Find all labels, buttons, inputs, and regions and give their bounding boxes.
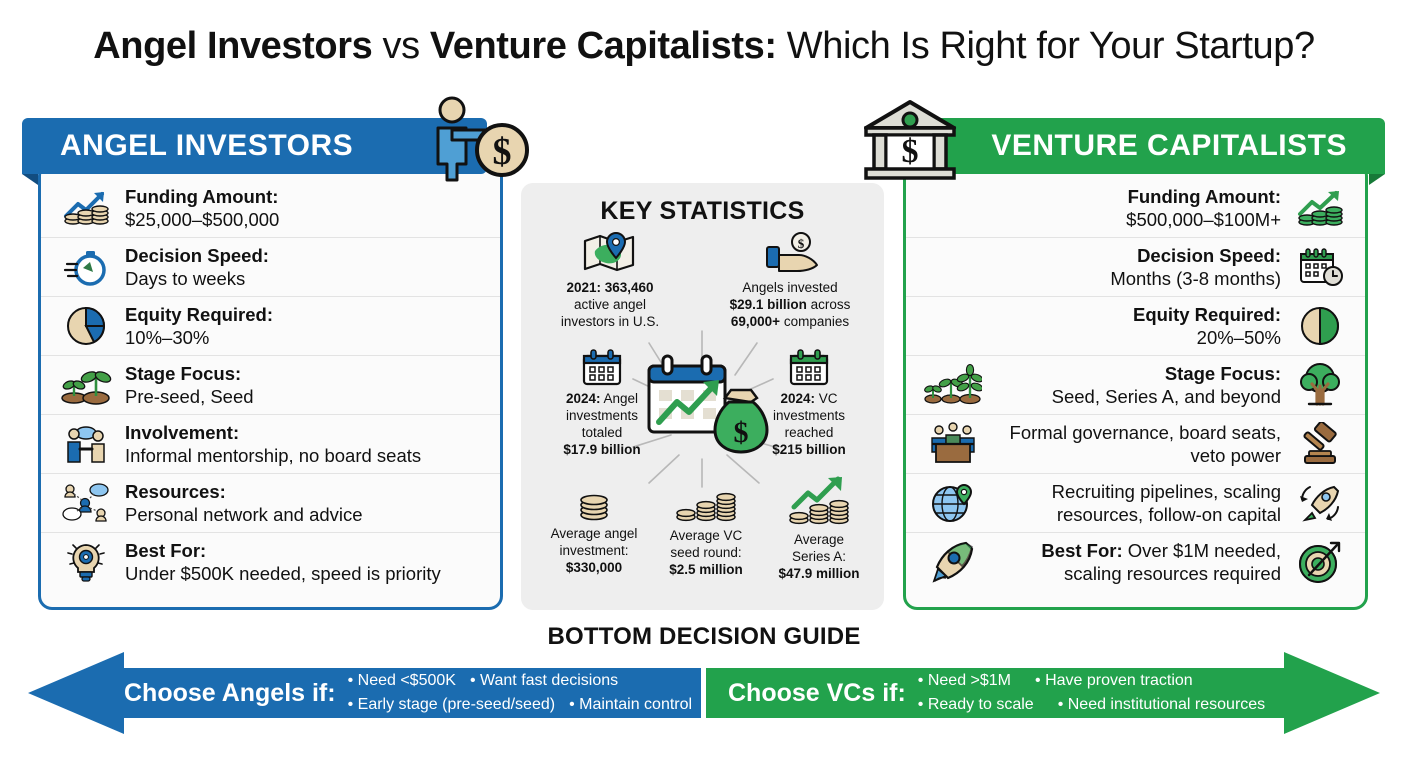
network-chat-icon	[55, 481, 117, 525]
vc-row-stage: Stage Focus: Seed, Series A, and beyond	[906, 355, 1365, 414]
banner-tail	[1369, 174, 1385, 185]
green-calendar-icon	[743, 348, 875, 390]
vc-bullet-3: • Ready to scale	[918, 693, 1034, 717]
angel-bullet-3: • Early stage (pre-seed/seed)	[348, 693, 555, 717]
stat-line: across	[807, 297, 851, 312]
stat-average-vc-seed-round: Average VC seed round: $2.5 million	[649, 483, 763, 578]
key-statistics-panel: KEY STATISTICS	[521, 183, 884, 610]
stat-line-bold: $215 billion	[772, 442, 846, 457]
stat-line: reached	[785, 425, 834, 440]
row-label: Stage Focus:	[984, 362, 1281, 385]
calendar-clock-icon	[1289, 246, 1351, 288]
vc-row-funding: Funding Amount: $500,000–$100M+	[906, 179, 1365, 237]
tree-icon	[1289, 362, 1351, 408]
green-growth-coins-icon	[1289, 188, 1351, 228]
stat-average-series-a: Average Series A: $47.9 million	[757, 475, 881, 582]
angel-row-stage-text: Stage Focus: Pre-seed, Seed	[117, 356, 484, 414]
vc-bullet-2: • Have proven traction	[1035, 669, 1193, 693]
row-value: Recruiting pipelines, scaling resources,…	[984, 480, 1281, 526]
three-seedlings-icon	[922, 363, 984, 407]
title-part-vc: Venture Capitalists:	[430, 25, 777, 67]
angel-row-equity: Equity Required: 10%–30%	[41, 296, 500, 355]
row-value: Formal governance, board seats, veto pow…	[984, 421, 1281, 467]
vc-banner-label: VENTURE CAPITALISTS	[991, 129, 1347, 163]
row-label: Best For:	[125, 539, 484, 562]
row-label: Stage Focus:	[125, 362, 484, 385]
row-label: Equity Required:	[125, 303, 484, 326]
choose-vcs-list: • Need >$1M • Have proven traction • Rea…	[906, 669, 1280, 717]
angel-row-resources-text: Resources: Personal network and advice	[117, 474, 484, 532]
stat-line: Angels invested	[742, 280, 837, 295]
stat-line-bold: $29.1 billion	[730, 297, 807, 312]
row-value: $500,000–$100M+	[984, 208, 1281, 231]
choose-angels-list: • Need <$500K • Want fast decisions • Ea…	[336, 669, 692, 717]
vc-row-stage-text: Stage Focus: Seed, Series A, and beyond	[984, 356, 1289, 414]
coin-stacks-arrow-icon	[757, 475, 881, 531]
gavel-icon	[1289, 422, 1351, 466]
stat-line-bold: 69,000+	[731, 314, 780, 329]
key-statistics-title: KEY STATISTICS	[521, 197, 884, 226]
blue-calendar-icon	[531, 348, 673, 390]
angel-bullet-4: • Maintain control	[569, 693, 692, 717]
stat-line: Average angel	[551, 526, 638, 541]
angel-row-resources: Resources: Personal network and advice	[41, 473, 500, 532]
angel-bullet-1: • Need <$500K	[348, 669, 456, 693]
boardroom-icon	[922, 422, 984, 466]
rocket-icon	[922, 539, 984, 585]
title-part-question: Which Is Right for Your Startup?	[777, 25, 1315, 67]
angel-rows: Funding Amount: $25,000–$500,000 Decisio…	[41, 179, 500, 591]
angel-banner: ANGEL INVESTORS	[22, 118, 487, 174]
stat-line: active angel	[574, 297, 646, 312]
growth-coins-icon	[55, 188, 117, 228]
stat-line: Average	[794, 532, 844, 547]
vc-row-governance-text: Formal governance, board seats, veto pow…	[984, 415, 1289, 473]
svg-text:$: $	[902, 133, 919, 170]
vc-bullet-1: • Need >$1M	[918, 669, 1011, 693]
rocket-cycle-icon	[1289, 481, 1351, 525]
stat-line: investments	[566, 408, 638, 423]
row-label: Equity Required:	[984, 303, 1281, 326]
svg-text:$: $	[798, 236, 805, 251]
stat-line: investments	[773, 408, 845, 423]
angel-row-speed-text: Decision Speed: Days to weeks	[117, 238, 484, 296]
stat-line-bold: $330,000	[566, 560, 622, 575]
choose-vcs-arrow: Choose VCs if: • Need >$1M • Have proven…	[706, 652, 1380, 734]
bottom-decision-guide-title: BOTTOM DECISION GUIDE	[0, 623, 1408, 651]
angel-row-equity-text: Equity Required: 10%–30%	[117, 297, 484, 355]
stat-line-bold: $47.9 million	[778, 566, 859, 581]
row-value: Informal mentorship, no board seats	[125, 444, 484, 467]
angel-investors-panel: Funding Amount: $25,000–$500,000 Decisio…	[38, 162, 503, 610]
row-label: Decision Speed:	[125, 244, 484, 267]
choose-vcs-heading: Choose VCs if:	[728, 679, 906, 708]
stat-line: Angel	[600, 391, 638, 406]
svg-text:$: $	[493, 131, 512, 173]
angel-bullet-2: • Want fast decisions	[470, 669, 618, 693]
coin-stack-small-icon	[529, 483, 659, 525]
choose-vcs-content: Choose VCs if: • Need >$1M • Have proven…	[728, 652, 1280, 734]
row-label: Best For:	[1041, 540, 1122, 561]
stat-vc-2024: 2024: VC investments reached $215 billio…	[743, 348, 875, 458]
stat-line-bold: 2024:	[566, 391, 601, 406]
row-value: Personal network and advice	[125, 503, 484, 526]
vc-row-equity: Equity Required: 20%–50%	[906, 296, 1365, 355]
angel-row-involvement-text: Involvement: Informal mentorship, no boa…	[117, 415, 484, 473]
stat-line: VC	[815, 391, 838, 406]
row-value: $25,000–$500,000	[125, 208, 484, 231]
stat-line-bold: 2024:	[780, 391, 815, 406]
choose-angels-content: Choose Angels if: • Need <$500K • Want f…	[124, 652, 687, 734]
mentorship-icon	[55, 422, 117, 466]
title-part-vs: vs	[372, 25, 430, 67]
pie-chart-icon	[55, 304, 117, 348]
row-label: Resources:	[125, 480, 484, 503]
us-map-pin-icon	[535, 231, 685, 279]
stat-active-angel-investors: 2021: 363,460 active angel investors in …	[535, 231, 685, 330]
bank-building-icon: $	[860, 96, 960, 193]
vc-row-resources-text: Recruiting pipelines, scaling resources,…	[984, 474, 1289, 532]
angel-row-stage: Stage Focus: Pre-seed, Seed	[41, 355, 500, 414]
row-value: Days to weeks	[125, 267, 484, 290]
vc-bullet-4: • Need institutional resources	[1058, 693, 1265, 717]
angel-banner-label: ANGEL INVESTORS	[60, 129, 353, 163]
stat-line: investment:	[559, 543, 628, 558]
stat-line: seed round:	[670, 545, 741, 560]
vc-row-speed: Decision Speed: Months (3-8 months)	[906, 237, 1365, 296]
stat-line: investors in U.S.	[561, 314, 659, 329]
angel-row-bestfor: Best For: Under $500K needed, speed is p…	[41, 532, 500, 591]
lightbulb-gear-icon	[55, 539, 117, 585]
venture-capitalists-panel: Funding Amount: $500,000–$100M+ Decis	[903, 162, 1368, 610]
hand-coin-icon: $	[707, 231, 873, 279]
investor-person-coin-icon: $	[424, 96, 530, 189]
stat-line: companies	[780, 314, 849, 329]
row-value: 20%–50%	[984, 326, 1281, 349]
vc-row-funding-text: Funding Amount: $500,000–$100M+	[984, 179, 1289, 237]
vc-banner: VENTURE CAPITALISTS	[920, 118, 1385, 174]
stat-line: 2021: 363,460	[566, 280, 653, 295]
globe-pin-icon	[922, 481, 984, 525]
half-pie-chart-icon	[1289, 304, 1351, 348]
vc-row-equity-text: Equity Required: 20%–50%	[984, 297, 1289, 355]
stat-line: Series A:	[792, 549, 846, 564]
row-value: Pre-seed, Seed	[125, 385, 484, 408]
row-label: Decision Speed:	[984, 244, 1281, 267]
vc-row-bestfor: Best For: Over $1M needed, scaling resou…	[906, 532, 1365, 591]
title-part-angel: Angel Investors	[93, 25, 372, 67]
stat-line-bold: $17.9 billion	[563, 442, 640, 457]
angel-row-speed: Decision Speed: Days to weeks	[41, 237, 500, 296]
page-title: Angel Investors vs Venture Capitalists: …	[0, 22, 1408, 70]
stat-line: Average VC	[670, 528, 743, 543]
banner-tail	[22, 174, 38, 185]
stat-line-bold: $2.5 million	[669, 562, 743, 577]
row-label: Funding Amount:	[984, 185, 1281, 208]
vc-row-speed-text: Decision Speed: Months (3-8 months)	[984, 238, 1289, 296]
row-value: Seed, Series A, and beyond	[984, 385, 1281, 408]
row-label: Involvement:	[125, 421, 484, 444]
row-value: Under $500K needed, speed is priority	[125, 562, 484, 585]
vc-rows: Funding Amount: $500,000–$100M+ Decis	[906, 179, 1365, 591]
seedlings-icon	[55, 364, 117, 406]
angel-row-involvement: Involvement: Informal mentorship, no boa…	[41, 414, 500, 473]
angel-row-bestfor-text: Best For: Under $500K needed, speed is p…	[117, 533, 484, 591]
vc-row-resources: Recruiting pipelines, scaling resources,…	[906, 473, 1365, 532]
vc-row-bestfor-text: Best For: Over $1M needed, scaling resou…	[984, 533, 1289, 591]
coin-stacks-medium-icon	[649, 483, 763, 527]
stat-angel-2024: 2024: Angel investments totaled $17.9 bi…	[531, 348, 673, 458]
stat-average-angel-investment: Average angel investment: $330,000	[529, 483, 659, 576]
row-value: Months (3-8 months)	[984, 267, 1281, 290]
choose-angels-arrow: Choose Angels if: • Need <$500K • Want f…	[28, 652, 701, 734]
row-value: 10%–30%	[125, 326, 484, 349]
stat-angels-invested: $ Angels invested $29.1 billion across 6…	[707, 231, 873, 330]
choose-angels-heading: Choose Angels if:	[124, 679, 336, 708]
stat-line: totaled	[582, 425, 623, 440]
stopwatch-icon	[55, 246, 117, 288]
vc-row-governance: Formal governance, board seats, veto pow…	[906, 414, 1365, 473]
target-icon	[1289, 539, 1351, 585]
